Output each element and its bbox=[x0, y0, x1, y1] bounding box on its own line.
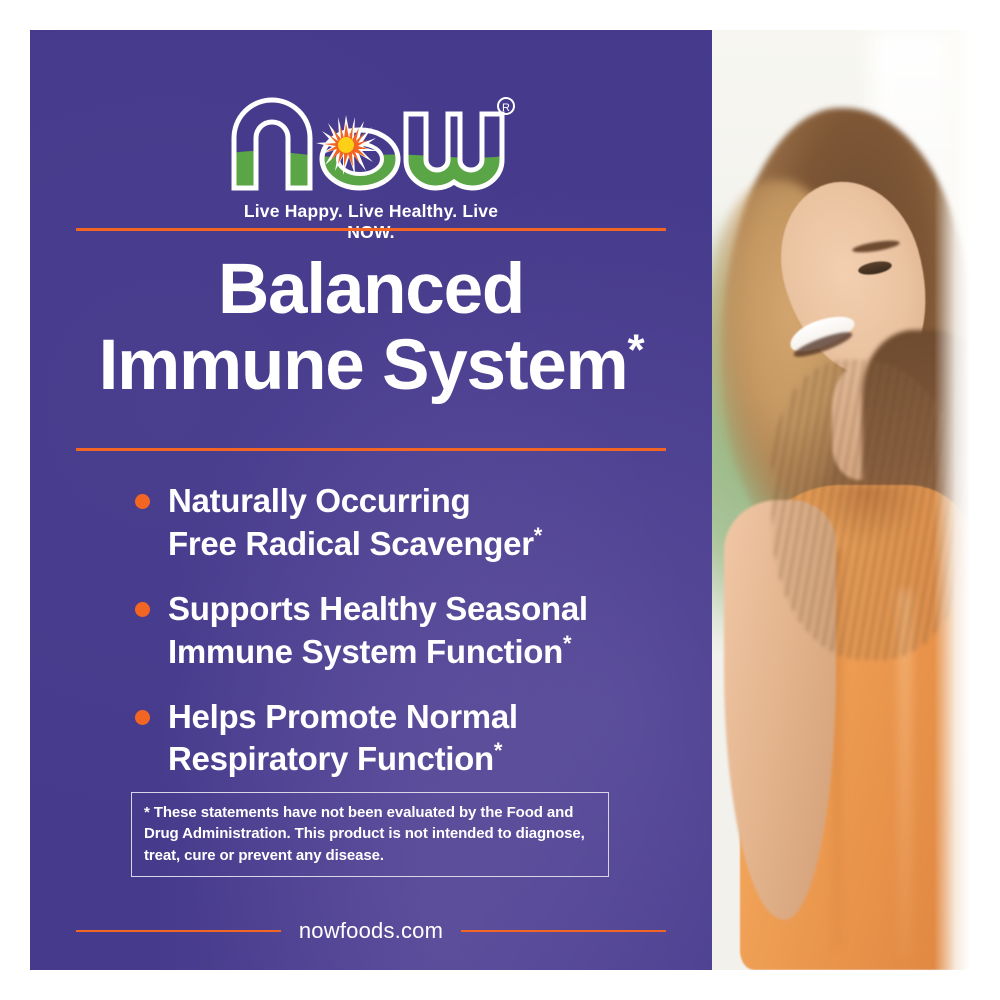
benefit-3-asterisk: * bbox=[494, 738, 502, 763]
now-logo-icon: R bbox=[226, 92, 516, 197]
svg-text:R: R bbox=[502, 102, 510, 114]
fda-disclaimer: * These statements have not been evaluat… bbox=[131, 792, 609, 877]
footer: nowfoods.com bbox=[30, 918, 712, 944]
benefit-3-line-1: Helps Promote Normal bbox=[168, 696, 670, 739]
list-item: Helps Promote Normal Respiratory Functio… bbox=[130, 696, 670, 782]
headline-line-2-wrap: Immune System* bbox=[30, 328, 712, 404]
bullet-dot-icon bbox=[135, 710, 150, 725]
page-title: Balanced Immune System* bbox=[30, 252, 712, 404]
benefit-3-line-2: Respiratory Function bbox=[168, 740, 494, 777]
bullet-dot-icon bbox=[135, 602, 150, 617]
headline-asterisk: * bbox=[628, 325, 644, 374]
list-item: Naturally Occurring Free Radical Scaveng… bbox=[130, 480, 670, 566]
content-panel: R Live Happy. Live Healthy. Live NOW. Ba… bbox=[30, 30, 712, 970]
benefit-3-line-2-wrap: Respiratory Function* bbox=[168, 738, 670, 781]
divider-rule-top bbox=[76, 228, 666, 231]
benefits-list: Naturally Occurring Free Radical Scaveng… bbox=[130, 480, 670, 781]
benefit-2-line-2-wrap: Immune System Function* bbox=[168, 631, 670, 674]
benefit-1-line-1: Naturally Occurring bbox=[168, 480, 670, 523]
website-url[interactable]: nowfoods.com bbox=[299, 918, 443, 944]
registered-trademark-icon: R bbox=[498, 98, 514, 114]
brand-logo: R Live Happy. Live Healthy. Live NOW. bbox=[30, 92, 712, 243]
bullet-dot-icon bbox=[135, 494, 150, 509]
brand-tagline: Live Happy. Live Healthy. Live NOW. bbox=[226, 201, 516, 243]
list-item: Supports Healthy Seasonal Immune System … bbox=[130, 588, 670, 674]
photo-right-fade bbox=[934, 30, 970, 970]
advertisement-card: R Live Happy. Live Healthy. Live NOW. Ba… bbox=[0, 0, 1000, 1000]
benefit-2-line-2: Immune System Function bbox=[168, 633, 563, 670]
divider-rule-bottom bbox=[76, 448, 666, 451]
lifestyle-photo bbox=[712, 30, 970, 970]
benefit-1-line-2: Free Radical Scavenger bbox=[168, 525, 534, 562]
benefit-2-asterisk: * bbox=[563, 631, 571, 656]
benefit-1-asterisk: * bbox=[534, 523, 542, 548]
footer-rule-left bbox=[76, 930, 281, 933]
headline-line-2: Immune System bbox=[99, 326, 628, 405]
footer-rule-right bbox=[461, 930, 666, 933]
benefit-2-line-1: Supports Healthy Seasonal bbox=[168, 588, 670, 631]
benefit-1-line-2-wrap: Free Radical Scavenger* bbox=[168, 523, 670, 566]
headline-line-1: Balanced bbox=[30, 252, 712, 328]
